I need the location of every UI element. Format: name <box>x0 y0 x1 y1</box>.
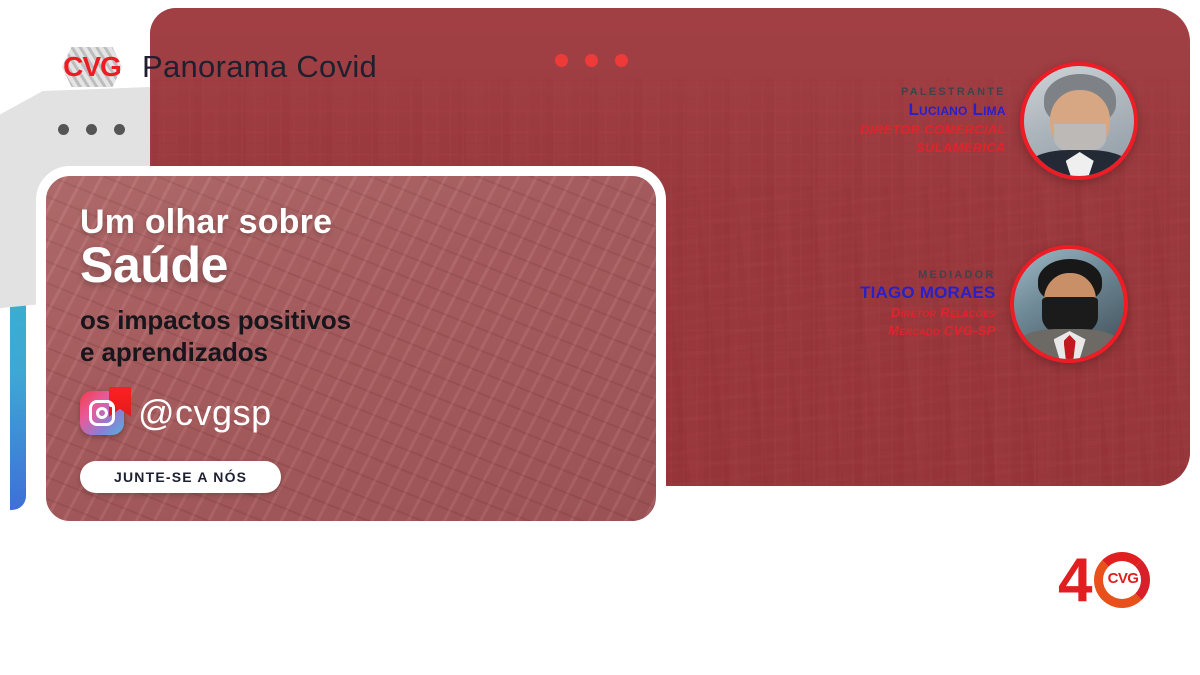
dot <box>555 54 568 67</box>
subheadline-line-1: os impactos positivos <box>80 304 656 337</box>
dot <box>58 124 69 135</box>
dot <box>1041 503 1052 514</box>
subheadline: os impactos positivos e aprendizados <box>80 304 656 369</box>
speaker-org-line-2: SULAMÉRICA <box>860 140 1006 156</box>
dot <box>1013 503 1024 514</box>
speaker-card-palestrante: PALESTRANTE Luciano Lima DIRETOR COMERCI… <box>860 62 1138 180</box>
headline-line-1: Um olhar sobre <box>80 204 656 241</box>
dot <box>985 503 996 514</box>
anniversary-cvg-mark: CVG <box>1102 570 1144 587</box>
speaker-info: MEDIADOR TIAGO MORAES Diretor Relações M… <box>860 269 996 339</box>
instagram-dot <box>109 403 113 407</box>
dot <box>114 124 125 135</box>
dot <box>615 54 628 67</box>
instagram-row[interactable]: @cvgsp <box>80 391 656 435</box>
event-banner: CVG Panorama Covid Um olhar sobre Saúde … <box>0 0 1200 675</box>
headline-line-2: Saúde <box>80 239 656 292</box>
dot <box>86 124 97 135</box>
subheadline-line-2: e aprendizados <box>80 336 656 369</box>
avatar-tiago-moraes <box>1010 245 1128 363</box>
three-dots-icon-white <box>985 503 1052 514</box>
page-title: Panorama Covid <box>142 49 377 85</box>
anniversary-40-logo: 4 CVG <box>1058 546 1154 616</box>
avatar-luciano-lima <box>1020 62 1138 180</box>
anniversary-number: 4 <box>1058 550 1092 612</box>
event-datetime: 21/10 (quinta) 18h30 <box>640 548 1012 593</box>
three-dots-icon-red <box>555 54 628 67</box>
cvg-logo-text: CVG <box>60 51 124 83</box>
join-us-button[interactable]: JUNTE-SE A NÓS <box>80 461 281 493</box>
main-content-card: Um olhar sobre Saúde os impactos positiv… <box>36 166 666 531</box>
speaker-name: TIAGO MORAES <box>860 284 996 303</box>
speaker-org-line-2: Mercado CVG-SP <box>860 323 996 339</box>
instagram-lens <box>96 407 108 419</box>
instagram-handle[interactable]: @cvgsp <box>138 392 272 434</box>
speaker-role: PALESTRANTE <box>860 86 1006 98</box>
speaker-role: MEDIADOR <box>860 269 996 281</box>
speaker-name: Luciano Lima <box>860 101 1006 120</box>
brand-header: CVG Panorama Covid <box>60 46 377 88</box>
dot <box>585 54 598 67</box>
cvg-hexagon-icon: CVG <box>60 46 124 88</box>
instagram-icon[interactable] <box>80 391 124 435</box>
speaker-card-mediador: MEDIADOR TIAGO MORAES Diretor Relações M… <box>860 245 1128 363</box>
three-dots-icon-grey <box>58 124 125 135</box>
speaker-info: PALESTRANTE Luciano Lima DIRETOR COMERCI… <box>860 86 1006 156</box>
speaker-org-line-1: DIRETOR COMERCIAL <box>860 122 1006 138</box>
speaker-org-line-1: Diretor Relações <box>860 305 996 321</box>
